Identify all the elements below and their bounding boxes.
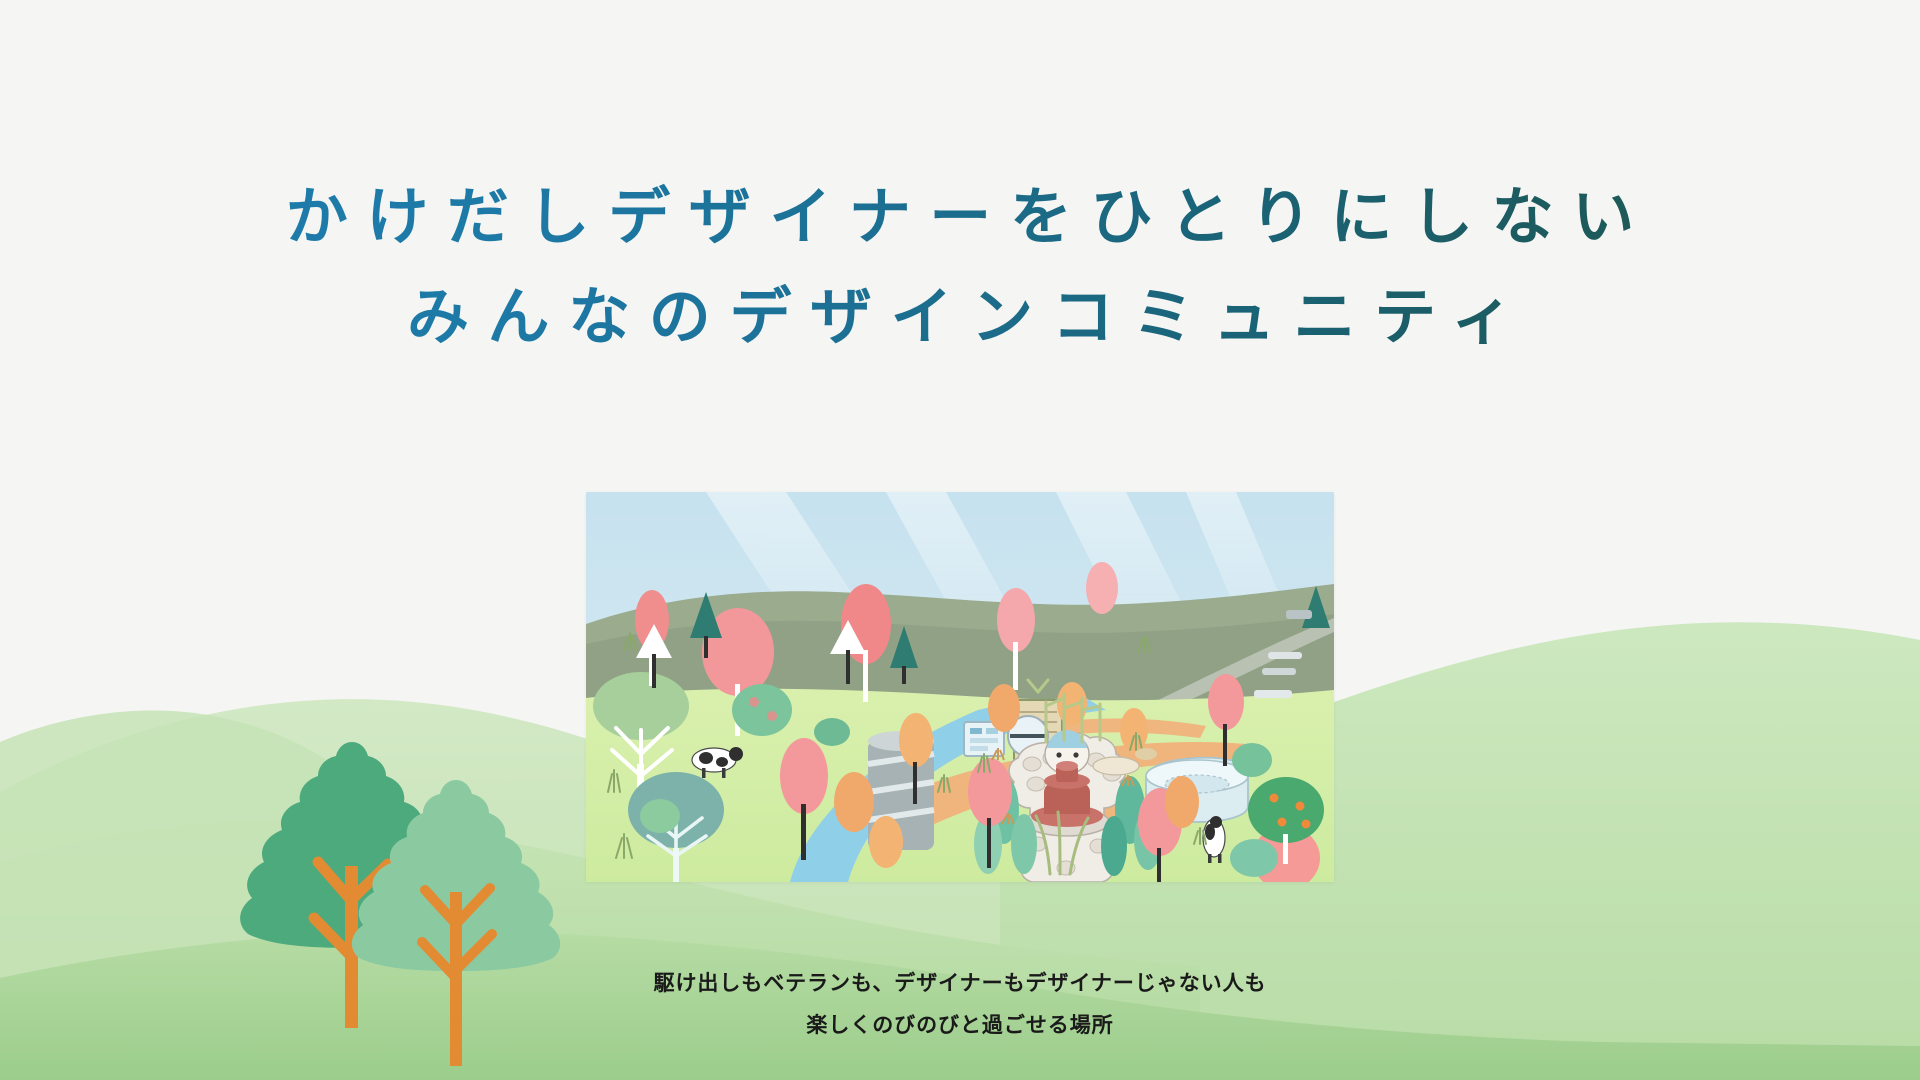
slide-canvas: かけだしデザイナーをひとりにしない みんなのデザインコミュニティ <box>0 0 1920 1080</box>
hero-caption: 駆け出しもベテランも、デザイナーもデザイナーじゃない人も 楽しくのびのびと過ごせ… <box>0 963 1920 1047</box>
title-line-1: かけだしデザイナーをひとりにしない <box>0 168 1920 268</box>
page-title: かけだしデザイナーをひとりにしない みんなのデザインコミュニティ <box>0 168 1920 369</box>
village-illustration <box>586 492 1334 882</box>
caption-line-1: 駆け出しもベテランも、デザイナーもデザイナーじゃない人も <box>0 963 1920 1005</box>
caption-line-2: 楽しくのびのびと過ごせる場所 <box>0 1005 1920 1047</box>
title-line-2: みんなのデザインコミュニティ <box>0 268 1920 368</box>
